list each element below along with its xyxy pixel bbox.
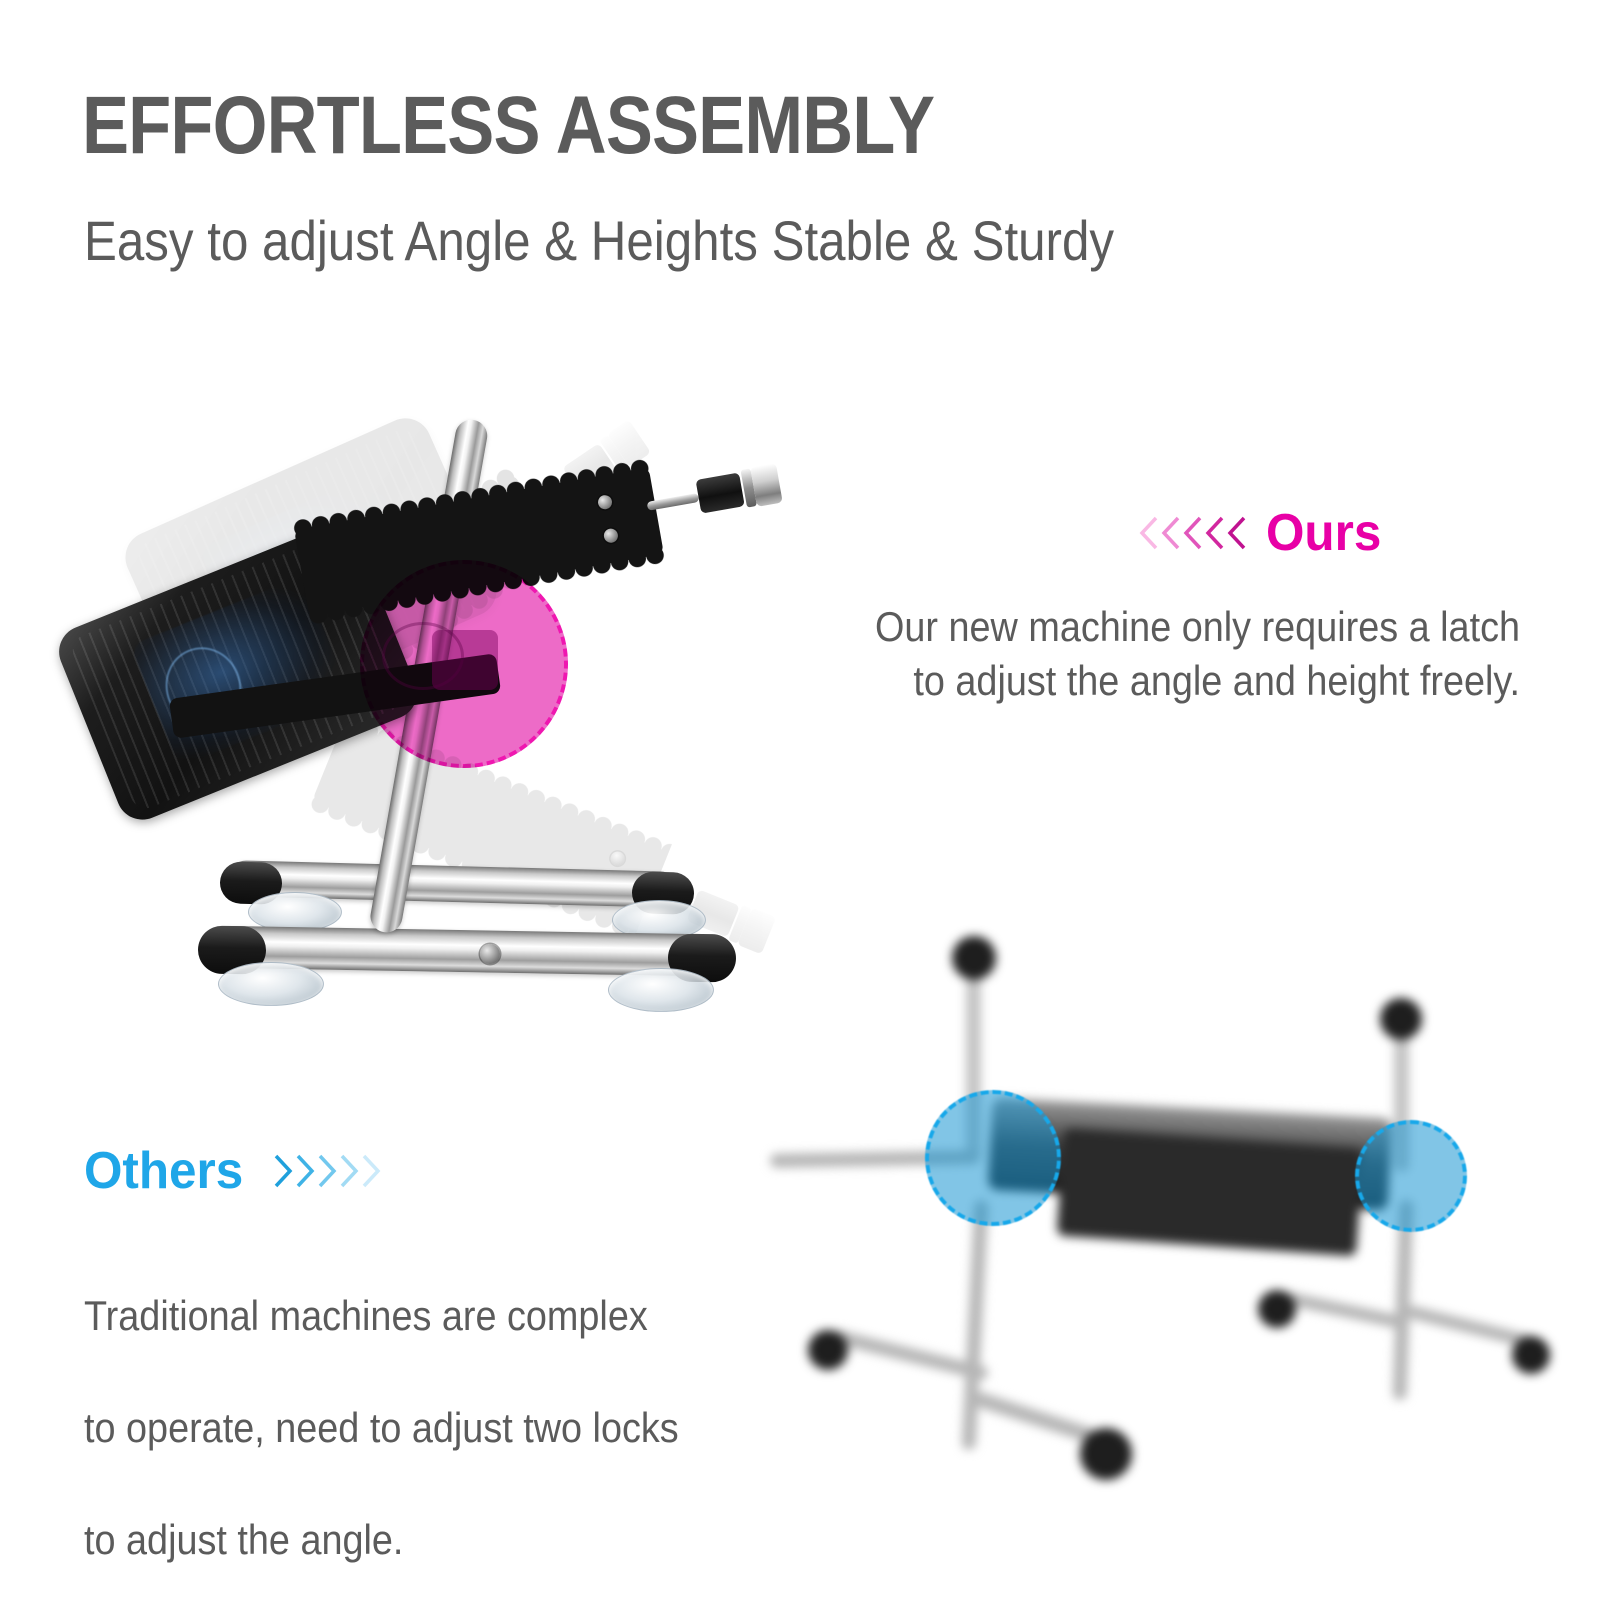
promo-image-root: EFFORTLESS ASSEMBLY Easy to adjust Angle… bbox=[0, 0, 1600, 1600]
others-description-line-3: to adjust the angle. bbox=[84, 1512, 750, 1568]
ours-label: Ours bbox=[1266, 507, 1381, 559]
others-heading-row: Others bbox=[84, 1138, 384, 1204]
others-chevrons bbox=[274, 1151, 384, 1191]
foot-cap-right-a bbox=[1258, 1290, 1296, 1328]
post-cap-left bbox=[952, 936, 996, 980]
product-photo-others bbox=[760, 900, 1560, 1580]
lock-highlight-circle-left bbox=[925, 1090, 1061, 1226]
leg-foot-left-b bbox=[971, 1390, 1099, 1444]
foot-cap-left-a bbox=[808, 1330, 848, 1370]
others-description: Traditional machines are complex to oper… bbox=[84, 1232, 750, 1600]
foot-cap-left-b bbox=[1080, 1428, 1132, 1480]
page-subtitle: Easy to adjust Angle & Heights Stable & … bbox=[84, 205, 1114, 277]
lock-highlight-left-wrap bbox=[925, 1090, 1061, 1226]
others-description-line-1: Traditional machines are complex bbox=[84, 1288, 750, 1344]
ours-description-line-1: Our new machine only requires a latch bbox=[818, 600, 1520, 654]
leg-post-left bbox=[961, 1200, 988, 1450]
others-label: Others bbox=[84, 1145, 243, 1197]
chevron-left-icon bbox=[1224, 513, 1250, 553]
ours-chevrons bbox=[1140, 513, 1250, 553]
leg-foot-right-b bbox=[1404, 1304, 1533, 1348]
ours-heading-row: Ours bbox=[1140, 498, 1387, 568]
others-description-line-2: to operate, need to adjust two locks bbox=[84, 1400, 750, 1456]
page-title: EFFORTLESS ASSEMBLY bbox=[82, 78, 934, 174]
lock-highlight-circle-right bbox=[1355, 1120, 1467, 1232]
chevron-right-icon bbox=[358, 1151, 384, 1191]
latch-cam-disc bbox=[382, 622, 464, 690]
ours-description: Our new machine only requires a latch to… bbox=[818, 600, 1520, 708]
product-photo-ours bbox=[60, 300, 820, 1040]
lock-highlight-right-wrap bbox=[1355, 1120, 1467, 1232]
post-cap-right bbox=[1380, 998, 1422, 1040]
foot-cap-right-b bbox=[1512, 1336, 1550, 1374]
adjustment-knob bbox=[644, 463, 783, 526]
machine-body-inner bbox=[1057, 1128, 1364, 1257]
leg-foot-right-a bbox=[1280, 1291, 1410, 1331]
ours-description-line-2: to adjust the angle and height freely. bbox=[818, 654, 1520, 708]
